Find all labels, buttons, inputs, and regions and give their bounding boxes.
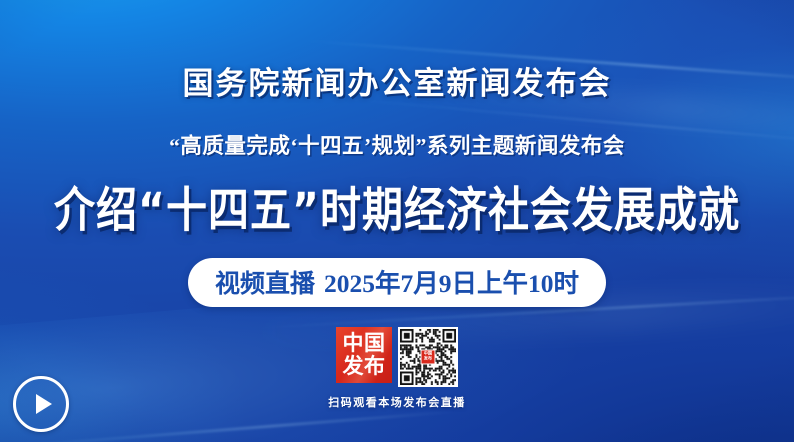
- logo-line-2: 发布: [343, 356, 386, 377]
- qr-code[interactable]: 中国 发布: [398, 327, 458, 387]
- logo-line-1: 中国: [343, 333, 386, 354]
- series-subtitle: “高质量完成‘十四五’规划”系列主题新闻发布会: [169, 129, 625, 160]
- play-icon: [36, 394, 52, 414]
- qr-section: 中国 发布 中国 发布 扫码观看本场发布会直播: [328, 327, 466, 410]
- qr-caption: 扫码观看本场发布会直播: [328, 394, 466, 410]
- organization-title: 国务院新闻办公室新闻发布会: [183, 58, 612, 103]
- live-broadcast-datetime: 2025年7月9日上午10时: [324, 263, 579, 300]
- video-poster-frame: 国务院新闻办公室新闻发布会 “高质量完成‘十四五’规划”系列主题新闻发布会 介绍…: [0, 0, 794, 442]
- poster-content: 国务院新闻办公室新闻发布会 “高质量完成‘十四五’规划”系列主题新闻发布会 介绍…: [0, 0, 794, 442]
- play-button[interactable]: [13, 376, 69, 432]
- qr-center-line-2: 发布: [424, 357, 432, 361]
- china-release-logo: 中国 发布: [336, 327, 392, 383]
- live-broadcast-label: 视频直播: [215, 264, 315, 300]
- page-title: 介绍“十四五”时期经济社会发展成就: [54, 171, 740, 241]
- qr-row: 中国 发布 中国 发布: [336, 327, 458, 387]
- live-broadcast-badge: 视频直播 2025年7月9日上午10时: [188, 258, 606, 307]
- qr-center-logo-icon: 中国 发布: [421, 350, 436, 365]
